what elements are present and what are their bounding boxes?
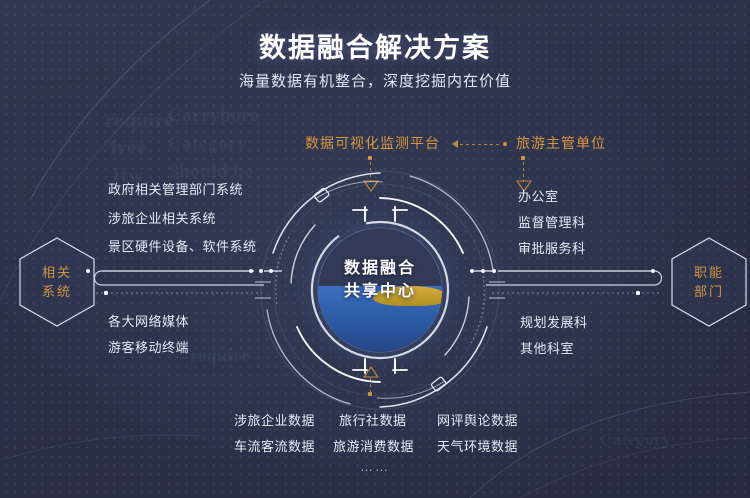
label-tourism-authority: 旅游主管单位 (516, 133, 606, 153)
hexagon-label-line1: 相关 (42, 263, 72, 282)
bottom-data-item: 涉旅企业数据 (234, 410, 315, 429)
right-department-item: 办公室 (518, 186, 559, 205)
right-department-item: 监督管理科 (518, 212, 586, 231)
connector-dot (104, 291, 108, 295)
connector-dot (368, 156, 372, 160)
hexagon-label-line2: 部门 (694, 282, 724, 301)
connector-dot (651, 269, 655, 273)
bottom-data-item: 旅游消费数据 (333, 436, 414, 455)
page-subtitle: 海量数据有机整合，深度挖掘内在价值 (0, 70, 750, 91)
connector-dot (521, 156, 525, 160)
hexagon-label-line1: 职能 (694, 263, 724, 282)
left-source-item: 涉旅企业相关系统 (108, 208, 216, 227)
left-source-item: 游客移动终端 (108, 337, 189, 356)
bottom-data-item: 车流客流数据 (234, 436, 315, 455)
left-source-item: 景区硬件设备、软件系统 (108, 236, 257, 255)
label-visualization-platform: 数据可视化监测平台 (305, 133, 440, 153)
hexagon-label-line2: 系统 (42, 282, 72, 301)
right-hexagon-label: 职能 部门 (668, 235, 750, 329)
background-word: free (110, 135, 147, 160)
left-source-item: 各大网络媒体 (108, 311, 189, 330)
background-word: require (105, 108, 174, 133)
data-fusion-hub[interactable]: 数据融合 共享中心 (255, 165, 505, 415)
hub-label-line1: 数据融合 (255, 257, 505, 280)
background-word: Category (168, 133, 247, 155)
connector-dot (503, 142, 507, 146)
infographic-canvas: require Carryboro Category free Should b… (0, 0, 750, 498)
connector-dot (86, 269, 90, 273)
connector-dot (636, 291, 640, 295)
bottom-data-item: 旅行社数据 (339, 410, 407, 429)
background-word: require (190, 345, 250, 366)
bottom-data-item: 天气环境数据 (437, 436, 518, 455)
right-department-item: 其他科室 (520, 338, 574, 357)
dotted-connector (460, 144, 502, 145)
right-department-item: 规划发展科 (520, 312, 588, 331)
background-word: Carryboro (168, 105, 260, 127)
hub-label: 数据融合 共享中心 (255, 257, 505, 303)
bottom-data-ellipsis: …… (0, 459, 750, 474)
bottom-data-item: 网评舆论数据 (437, 410, 518, 429)
background-word: Category (600, 430, 671, 450)
arrow-left-icon (452, 140, 458, 148)
dotted-connector (523, 162, 524, 182)
right-hexagon-node[interactable]: 职能 部门 (668, 235, 750, 329)
right-department-item: 审批服务科 (518, 238, 586, 257)
hub-label-line2: 共享中心 (255, 280, 505, 303)
page-title: 数据融合解决方案 (0, 26, 750, 65)
connector-dot (249, 269, 253, 273)
left-source-item: 政府相关管理部门系统 (108, 179, 243, 198)
